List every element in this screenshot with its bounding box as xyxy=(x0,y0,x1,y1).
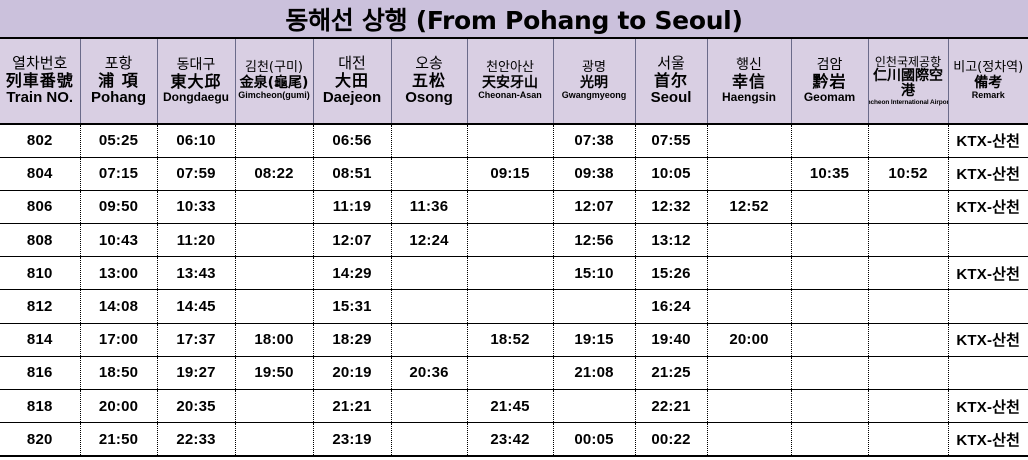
timetable-page: 동해선 상행 (From Pohang to Seoul) 열차번호列車番號Tr… xyxy=(0,0,1028,460)
remark-cell: KTX-산천 xyxy=(948,124,1028,157)
column-header-hanja: 黔岩 xyxy=(812,74,846,91)
column-header-korean: 김천(구미) xyxy=(245,61,303,75)
time-cell-seoul: 13:12 xyxy=(635,224,707,257)
train-number-cell: 802 xyxy=(0,124,80,157)
column-header-korean: 포항 xyxy=(105,56,133,72)
time-cell-incheon-airport xyxy=(868,257,948,290)
time-cell-daejeon: 21:21 xyxy=(313,390,391,423)
column-header-korean: 비고(정차역) xyxy=(953,61,1023,75)
time-cell-daejeon: 20:19 xyxy=(313,356,391,389)
title-bar: 동해선 상행 (From Pohang to Seoul) xyxy=(0,0,1028,37)
column-header-english: Pohang xyxy=(91,90,146,106)
time-cell-geomam xyxy=(791,356,868,389)
train-number-cell: 816 xyxy=(0,356,80,389)
remark-cell: KTX-산천 xyxy=(948,190,1028,223)
time-cell-gwangmyeong: 21:08 xyxy=(553,356,635,389)
time-cell-dongdaegu: 11:20 xyxy=(157,224,235,257)
column-header-osong: 오송五松Osong xyxy=(391,38,467,124)
page-title: 동해선 상행 (From Pohang to Seoul) xyxy=(285,1,742,37)
column-header-english: Geomam xyxy=(804,91,855,104)
time-cell-gimcheon xyxy=(235,257,313,290)
time-cell-osong xyxy=(391,423,467,456)
column-header-korean: 광명 xyxy=(582,61,606,75)
time-cell-daejeon: 08:51 xyxy=(313,157,391,190)
column-header-english: Daejeon xyxy=(323,90,381,106)
time-cell-gimcheon: 19:50 xyxy=(235,356,313,389)
time-cell-seoul: 22:21 xyxy=(635,390,707,423)
time-cell-geomam xyxy=(791,323,868,356)
remark-cell xyxy=(948,224,1028,257)
time-cell-dongdaegu: 19:27 xyxy=(157,356,235,389)
table-row: 80205:2506:1006:5607:3807:55KTX-산천 xyxy=(0,124,1028,157)
time-cell-gwangmyeong: 07:38 xyxy=(553,124,635,157)
remark-cell: KTX-산천 xyxy=(948,157,1028,190)
column-header-haengsin: 행신幸信Haengsin xyxy=(707,38,791,124)
column-header-korean: 열차번호 xyxy=(12,56,67,72)
time-cell-pohang: 18:50 xyxy=(80,356,157,389)
time-cell-dongdaegu: 07:59 xyxy=(157,157,235,190)
time-cell-pohang: 10:43 xyxy=(80,224,157,257)
table-row: 81618:5019:2719:5020:1920:3621:0821:25 xyxy=(0,356,1028,389)
column-header-korean: 검암 xyxy=(817,58,843,73)
time-cell-osong xyxy=(391,290,467,323)
time-cell-pohang: 17:00 xyxy=(80,323,157,356)
time-cell-dongdaegu: 22:33 xyxy=(157,423,235,456)
time-cell-gimcheon xyxy=(235,224,313,257)
train-number-cell: 814 xyxy=(0,323,80,356)
time-cell-pohang: 20:00 xyxy=(80,390,157,423)
time-cell-daejeon: 06:56 xyxy=(313,124,391,157)
column-header-cheonan-asan: 천안아산天安牙山Cheonan-Asan xyxy=(467,38,553,124)
time-cell-geomam xyxy=(791,290,868,323)
column-header-english: Dongdaegu xyxy=(163,91,229,104)
train-number-cell: 812 xyxy=(0,290,80,323)
column-header-train-no: 열차번호列車番號Train NO. xyxy=(0,38,80,124)
time-cell-incheon-airport xyxy=(868,423,948,456)
column-header-english: Train NO. xyxy=(6,90,73,106)
column-header-english: Cheonan-Asan xyxy=(478,91,542,100)
train-number-cell: 810 xyxy=(0,257,80,290)
time-cell-gimcheon xyxy=(235,124,313,157)
time-cell-haengsin xyxy=(707,124,791,157)
time-cell-gwangmyeong: 09:38 xyxy=(553,157,635,190)
time-cell-osong: 20:36 xyxy=(391,356,467,389)
time-cell-geomam xyxy=(791,190,868,223)
column-header-hanja: 大田 xyxy=(335,73,369,90)
remark-cell: KTX-산천 xyxy=(948,257,1028,290)
column-header-english: Remark xyxy=(972,91,1005,100)
time-cell-haengsin: 20:00 xyxy=(707,323,791,356)
column-header-english: Gimcheon(gumi) xyxy=(238,91,310,100)
time-cell-daejeon: 15:31 xyxy=(313,290,391,323)
time-cell-seoul: 16:24 xyxy=(635,290,707,323)
time-cell-gwangmyeong: 12:56 xyxy=(553,224,635,257)
column-header-hanja: 浦 項 xyxy=(98,73,139,90)
time-cell-haengsin: 12:52 xyxy=(707,190,791,223)
time-cell-pohang: 07:15 xyxy=(80,157,157,190)
column-header-gwangmyeong: 광명光明Gwangmyeong xyxy=(553,38,635,124)
column-header-english: Gwangmyeong xyxy=(562,91,627,100)
time-cell-pohang: 14:08 xyxy=(80,290,157,323)
time-cell-geomam xyxy=(791,257,868,290)
column-header-geomam: 검암黔岩Geomam xyxy=(791,38,868,124)
column-header-pohang: 포항浦 項Pohang xyxy=(80,38,157,124)
time-cell-dongdaegu: 14:45 xyxy=(157,290,235,323)
time-cell-seoul: 12:32 xyxy=(635,190,707,223)
time-cell-geomam xyxy=(791,423,868,456)
time-cell-osong xyxy=(391,323,467,356)
time-cell-gwangmyeong: 00:05 xyxy=(553,423,635,456)
column-header-english: Osong xyxy=(405,90,453,106)
time-cell-osong xyxy=(391,124,467,157)
time-cell-gwangmyeong xyxy=(553,390,635,423)
time-cell-osong xyxy=(391,390,467,423)
column-header-korean: 대전 xyxy=(338,56,366,72)
train-number-cell: 820 xyxy=(0,423,80,456)
column-header-hanja: 仁川國際空港 xyxy=(870,69,947,98)
table-body: 80205:2506:1006:5607:3807:55KTX-산천80407:… xyxy=(0,124,1028,456)
time-cell-osong xyxy=(391,257,467,290)
time-cell-gwangmyeong xyxy=(553,290,635,323)
time-cell-gwangmyeong: 12:07 xyxy=(553,190,635,223)
time-cell-cheonan-asan xyxy=(467,356,553,389)
time-cell-dongdaegu: 06:10 xyxy=(157,124,235,157)
table-row: 80407:1507:5908:2208:5109:1509:3810:0510… xyxy=(0,157,1028,190)
table-header: 열차번호列車番號Train NO.포항浦 項Pohang동대구東大邱Dongda… xyxy=(0,38,1028,124)
time-cell-osong: 12:24 xyxy=(391,224,467,257)
column-header-hanja: 光明 xyxy=(580,76,608,91)
time-cell-cheonan-asan xyxy=(467,224,553,257)
time-cell-dongdaegu: 13:43 xyxy=(157,257,235,290)
time-cell-seoul: 10:05 xyxy=(635,157,707,190)
time-cell-gwangmyeong: 19:15 xyxy=(553,323,635,356)
column-header-korean: 서울 xyxy=(657,56,685,72)
train-number-cell: 818 xyxy=(0,390,80,423)
column-header-english: Seoul xyxy=(651,90,692,106)
remark-cell xyxy=(948,290,1028,323)
column-header-hanja: 幸信 xyxy=(732,74,766,91)
time-cell-incheon-airport xyxy=(868,356,948,389)
table-row: 81013:0013:4314:2915:1015:26KTX-산천 xyxy=(0,257,1028,290)
time-cell-gimcheon: 18:00 xyxy=(235,323,313,356)
header-row: 열차번호列車番號Train NO.포항浦 項Pohang동대구東大邱Dongda… xyxy=(0,38,1028,124)
time-cell-daejeon: 14:29 xyxy=(313,257,391,290)
time-cell-incheon-airport xyxy=(868,390,948,423)
time-cell-daejeon: 12:07 xyxy=(313,224,391,257)
time-cell-seoul: 00:22 xyxy=(635,423,707,456)
table-row: 81820:0020:3521:2121:4522:21KTX-산천 xyxy=(0,390,1028,423)
remark-cell: KTX-산천 xyxy=(948,323,1028,356)
time-cell-cheonan-asan: 23:42 xyxy=(467,423,553,456)
time-cell-seoul: 19:40 xyxy=(635,323,707,356)
time-cell-incheon-airport xyxy=(868,124,948,157)
column-header-korean: 동대구 xyxy=(177,58,216,73)
time-cell-cheonan-asan xyxy=(467,290,553,323)
time-cell-daejeon: 11:19 xyxy=(313,190,391,223)
column-header-dongdaegu: 동대구東大邱Dongdaegu xyxy=(157,38,235,124)
time-cell-haengsin xyxy=(707,224,791,257)
time-cell-gimcheon: 08:22 xyxy=(235,157,313,190)
time-cell-pohang: 09:50 xyxy=(80,190,157,223)
remark-cell: KTX-산천 xyxy=(948,390,1028,423)
train-number-cell: 804 xyxy=(0,157,80,190)
column-header-korean: 천안아산 xyxy=(486,61,534,75)
time-cell-dongdaegu: 10:33 xyxy=(157,190,235,223)
column-header-hanja: 列車番號 xyxy=(6,73,74,90)
time-cell-haengsin xyxy=(707,290,791,323)
time-cell-dongdaegu: 17:37 xyxy=(157,323,235,356)
remark-cell: KTX-산천 xyxy=(948,423,1028,456)
column-header-gimcheon: 김천(구미)金泉(龜尾)Gimcheon(gumi) xyxy=(235,38,313,124)
time-cell-gimcheon xyxy=(235,190,313,223)
train-timetable: 열차번호列車番號Train NO.포항浦 項Pohang동대구東大邱Dongda… xyxy=(0,37,1028,457)
table-row: 82021:5022:3323:1923:4200:0500:22KTX-산천 xyxy=(0,423,1028,456)
column-header-seoul: 서울首尔Seoul xyxy=(635,38,707,124)
time-cell-daejeon: 18:29 xyxy=(313,323,391,356)
column-header-hanja: 備考 xyxy=(974,76,1002,91)
table-row: 80609:5010:3311:1911:3612:0712:3212:52KT… xyxy=(0,190,1028,223)
time-cell-geomam xyxy=(791,224,868,257)
time-cell-pohang: 21:50 xyxy=(80,423,157,456)
time-cell-incheon-airport xyxy=(868,224,948,257)
time-cell-geomam: 10:35 xyxy=(791,157,868,190)
time-cell-osong: 11:36 xyxy=(391,190,467,223)
remark-cell xyxy=(948,356,1028,389)
table-row: 80810:4311:2012:0712:2412:5613:12 xyxy=(0,224,1028,257)
time-cell-haengsin xyxy=(707,390,791,423)
time-cell-daejeon: 23:19 xyxy=(313,423,391,456)
column-header-korean: 인천국제공항 xyxy=(875,56,941,69)
time-cell-gimcheon xyxy=(235,290,313,323)
train-number-cell: 808 xyxy=(0,224,80,257)
time-cell-cheonan-asan: 09:15 xyxy=(467,157,553,190)
column-header-hanja: 五松 xyxy=(412,73,446,90)
column-header-incheon-airport: 인천국제공항仁川國際空港Incheon International Airpor… xyxy=(868,38,948,124)
time-cell-gwangmyeong: 15:10 xyxy=(553,257,635,290)
time-cell-pohang: 13:00 xyxy=(80,257,157,290)
column-header-hanja: 天安牙山 xyxy=(482,76,538,91)
time-cell-haengsin xyxy=(707,423,791,456)
column-header-remark: 비고(정차역)備考Remark xyxy=(948,38,1028,124)
time-cell-cheonan-asan xyxy=(467,190,553,223)
column-header-hanja: 首尔 xyxy=(654,73,688,90)
column-header-daejeon: 대전大田Daejeon xyxy=(313,38,391,124)
time-cell-cheonan-asan xyxy=(467,124,553,157)
time-cell-incheon-airport xyxy=(868,323,948,356)
time-cell-seoul: 07:55 xyxy=(635,124,707,157)
time-cell-cheonan-asan xyxy=(467,257,553,290)
time-cell-cheonan-asan: 18:52 xyxy=(467,323,553,356)
time-cell-dongdaegu: 20:35 xyxy=(157,390,235,423)
time-cell-haengsin xyxy=(707,157,791,190)
column-header-hanja: 東大邱 xyxy=(170,74,221,91)
time-cell-incheon-airport xyxy=(868,190,948,223)
time-cell-geomam xyxy=(791,124,868,157)
time-cell-gimcheon xyxy=(235,390,313,423)
train-number-cell: 806 xyxy=(0,190,80,223)
time-cell-cheonan-asan: 21:45 xyxy=(467,390,553,423)
time-cell-pohang: 05:25 xyxy=(80,124,157,157)
column-header-english: Incheon International Airport xyxy=(868,100,948,107)
time-cell-osong xyxy=(391,157,467,190)
column-header-english: Haengsin xyxy=(722,91,776,104)
column-header-hanja: 金泉(龜尾) xyxy=(240,76,309,91)
time-cell-geomam xyxy=(791,390,868,423)
column-header-korean: 오송 xyxy=(415,56,443,72)
time-cell-gimcheon xyxy=(235,423,313,456)
time-cell-haengsin xyxy=(707,356,791,389)
time-cell-incheon-airport xyxy=(868,290,948,323)
time-cell-seoul: 15:26 xyxy=(635,257,707,290)
table-row: 81417:0017:3718:0018:2918:5219:1519:4020… xyxy=(0,323,1028,356)
column-header-korean: 행신 xyxy=(736,58,762,73)
time-cell-haengsin xyxy=(707,257,791,290)
table-row: 81214:0814:4515:3116:24 xyxy=(0,290,1028,323)
time-cell-incheon-airport: 10:52 xyxy=(868,157,948,190)
time-cell-seoul: 21:25 xyxy=(635,356,707,389)
